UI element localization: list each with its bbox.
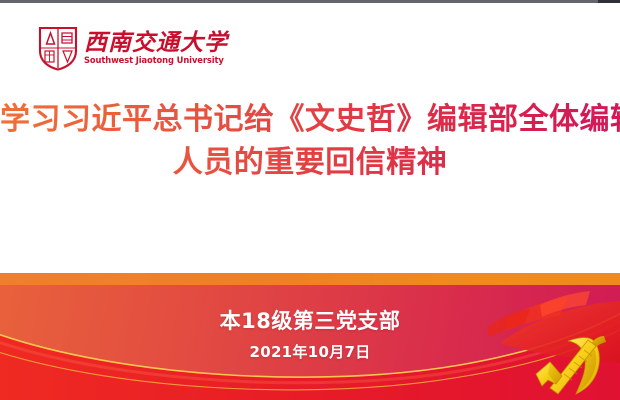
shield-crest-icon: [38, 25, 78, 71]
slide-title-line-2: 人员的重要回信精神: [0, 142, 620, 185]
slide-footer-banner: 本18级第三党支部 2021年10月7日: [0, 273, 620, 400]
slide-title-line-1: 学习习近平总书记给《文史哲》编辑部全体编辑: [0, 99, 620, 142]
slide-title: 学习习近平总书记给《文史哲》编辑部全体编辑 人员的重要回信精神: [0, 99, 620, 184]
banner-orange-strip: [0, 273, 620, 285]
university-logo: 西南交通大学 Southwest Jiaotong University: [38, 25, 228, 71]
presentation-slide: 西南交通大学 Southwest Jiaotong University 学习习…: [0, 0, 620, 400]
university-name-cn: 西南交通大学: [84, 31, 228, 54]
university-logo-wordmark: 西南交通大学 Southwest Jiaotong University: [84, 31, 228, 66]
hammer-and-sickle-icon: [526, 328, 614, 400]
university-name-en: Southwest Jiaotong University: [84, 57, 225, 66]
slide-upper-area: 西南交通大学 Southwest Jiaotong University 学习习…: [0, 3, 620, 273]
